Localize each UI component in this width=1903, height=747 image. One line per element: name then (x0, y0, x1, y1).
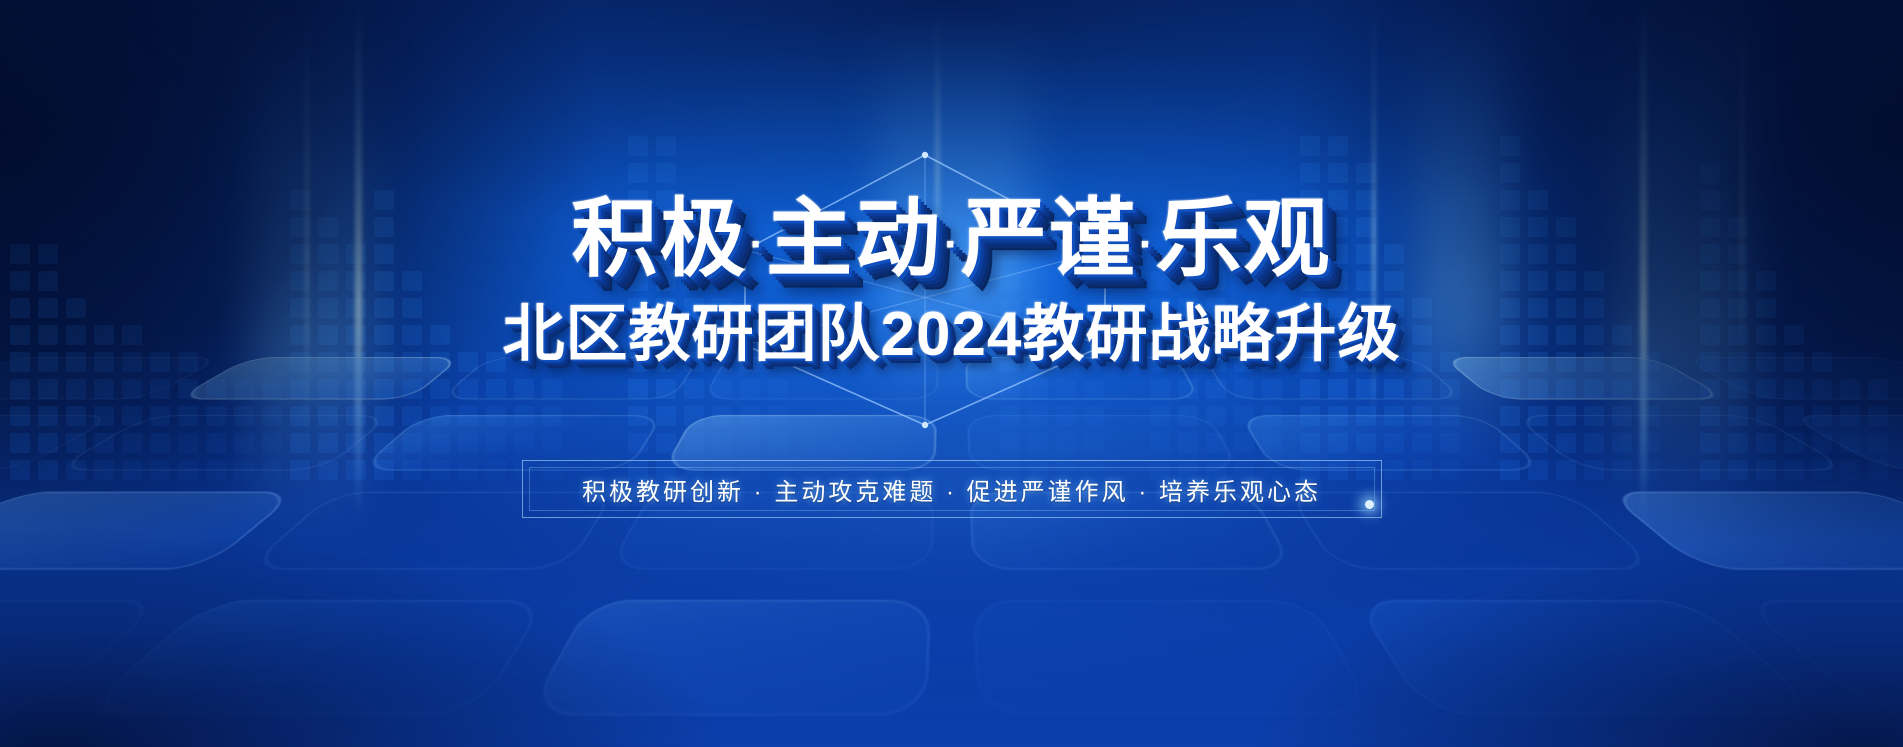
promo-banner: 积极·主动·严谨·乐观 北区教研团队2024教研战略升级 积极教研创新 · 主动… (0, 0, 1903, 747)
glow-node-dot (1365, 500, 1374, 509)
banner-tagline: 积极教研创新 · 主动攻克难题 · 促进严谨作风 · 培养乐观心态 (582, 472, 1321, 507)
title-word-3: 严谨 (961, 191, 1137, 287)
banner-subtitle: 北区教研团队2024教研战略升级 (503, 304, 1401, 366)
title-word-1: 积极 (572, 191, 748, 287)
title-separator-1: · (750, 220, 765, 269)
banner-title: 积极·主动·严谨·乐观 (572, 196, 1332, 282)
banner-content: 积极·主动·严谨·乐观 北区教研团队2024教研战略升级 (0, 0, 1903, 747)
title-word-2: 主动 (766, 191, 942, 287)
title-word-4: 乐观 (1155, 191, 1331, 287)
title-separator-3: · (1139, 220, 1154, 269)
title-separator-2: · (944, 220, 959, 269)
tagline-frame: 积极教研创新 · 主动攻克难题 · 促进严谨作风 · 培养乐观心态 (522, 460, 1382, 518)
